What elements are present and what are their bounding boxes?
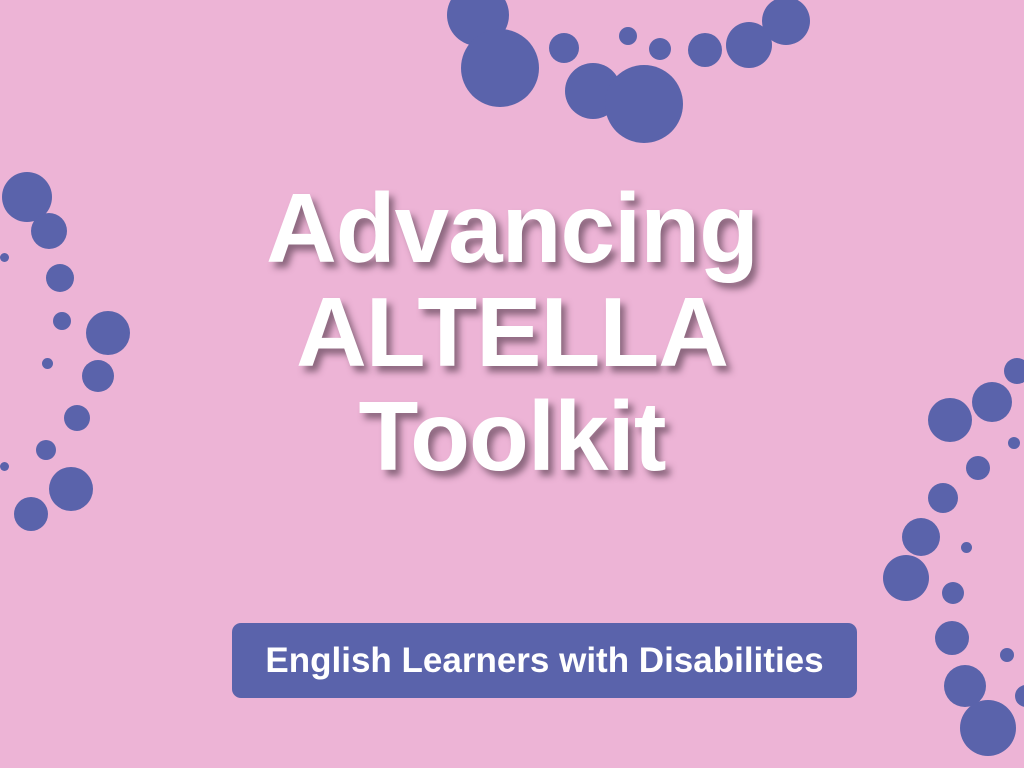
circle-dot-icon	[942, 582, 964, 604]
circle-dot-icon	[883, 555, 929, 601]
circle-dot-icon	[461, 29, 539, 107]
circle-dot-icon	[649, 38, 671, 60]
circle-dot-icon	[960, 700, 1016, 756]
circle-dot-icon	[1000, 648, 1014, 662]
circle-dot-icon	[619, 27, 637, 45]
circle-dot-icon	[14, 497, 48, 531]
title-line-1: Advancing	[0, 176, 1024, 280]
circle-dot-icon	[565, 63, 621, 119]
circle-dot-icon	[935, 621, 969, 655]
circle-dot-icon	[961, 542, 972, 553]
title-line-3: Toolkit	[0, 384, 1024, 488]
circle-dot-icon	[549, 33, 579, 63]
circle-dot-icon	[688, 33, 722, 67]
title-line-2: ALTELLA	[0, 280, 1024, 384]
slide-canvas: Advancing ALTELLA Toolkit English Learne…	[0, 0, 1024, 768]
circle-dot-icon	[902, 518, 940, 556]
circle-dot-icon	[726, 22, 772, 68]
subtitle-banner: English Learners with Disabilities	[232, 623, 857, 698]
circle-dot-icon	[1015, 685, 1024, 707]
circle-dot-icon	[762, 0, 810, 45]
circle-dot-icon	[944, 665, 986, 707]
circle-dot-icon	[605, 65, 683, 143]
page-title: Advancing ALTELLA Toolkit	[0, 176, 1024, 488]
circle-dot-icon	[447, 0, 509, 46]
subtitle-label: English Learners with Disabilities	[265, 642, 823, 680]
